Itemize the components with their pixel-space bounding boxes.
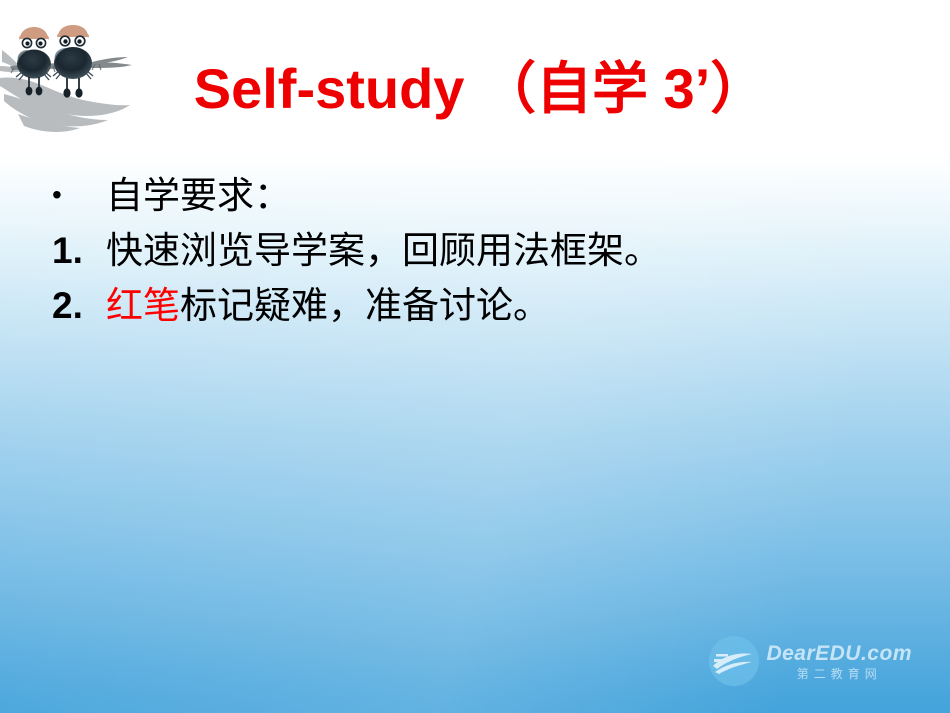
body-line-item-2-highlight: 红笔 (106, 286, 180, 327)
dearedu-watermark: DearEDU.com 第二教育网 (708, 635, 912, 687)
slide-body: •自学要求： 1.快速浏览导学案，回顾用法框架。 2.红笔标记疑难，准备讨论。 (52, 168, 912, 334)
wave-globe-icon (708, 635, 760, 687)
body-line-item-2: 2.红笔标记疑难，准备讨论。 (52, 279, 912, 334)
body-line-item-1: 1.快速浏览导学案，回顾用法框架。 (52, 224, 912, 279)
bullet-marker: • (52, 168, 106, 222)
body-line-item-1-text: 快速浏览导学案，回顾用法框架。 (106, 231, 661, 272)
list-number-1: 1. (52, 224, 106, 278)
body-line-bullet-text: 自学要求： (106, 176, 291, 217)
slide-canvas: Self-study （自学 3’） •自学要求： 1.快速浏览导学案，回顾用法… (0, 0, 950, 713)
body-line-item-2-text: 标记疑难，准备讨论。 (180, 286, 550, 327)
body-line-bullet: •自学要求： (52, 168, 912, 224)
watermark-chinese: 第二教育网 (766, 668, 912, 680)
watermark-domain: DearEDU.com (766, 643, 912, 664)
watermark-text: DearEDU.com 第二教育网 (766, 643, 912, 680)
two-birds-on-branch-ink-painting (0, 6, 136, 146)
list-number-2: 2. (52, 279, 106, 333)
slide-title: Self-study （自学 3’） (130, 54, 830, 124)
